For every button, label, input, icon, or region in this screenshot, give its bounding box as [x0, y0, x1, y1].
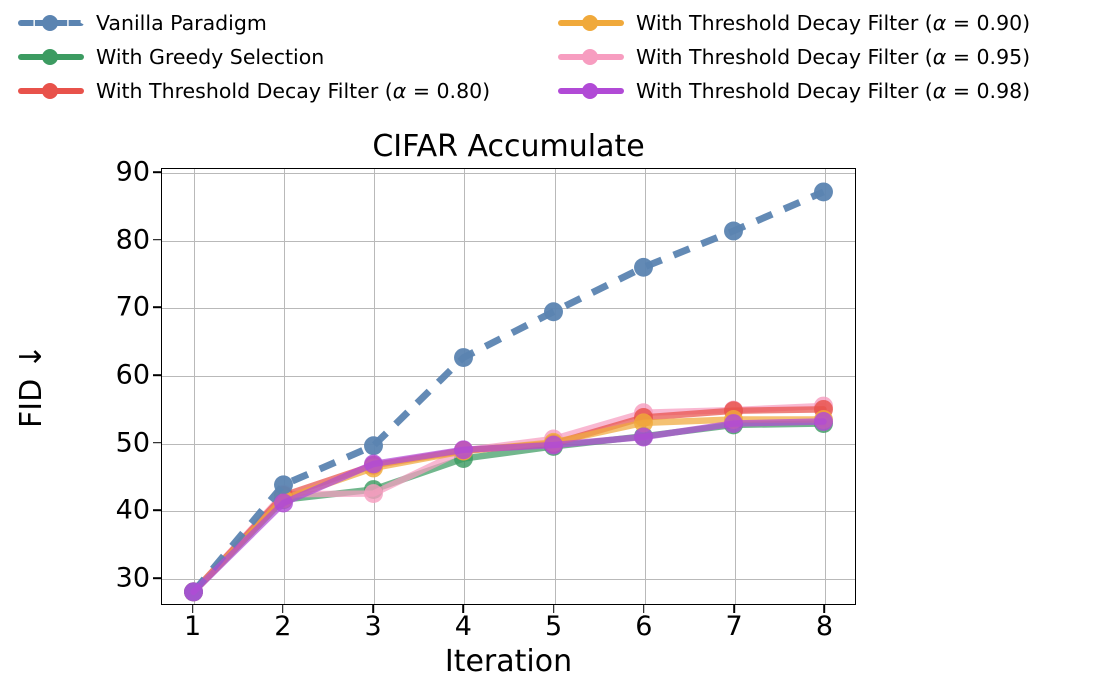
series-group	[184, 412, 833, 601]
legend-marker-icon	[42, 15, 58, 31]
legend-swatch-icon	[18, 45, 84, 69]
data-point-marker	[364, 454, 383, 473]
data-point-marker	[814, 182, 833, 201]
x-tick-label: 2	[274, 612, 291, 642]
x-tick-label: 3	[365, 612, 382, 642]
legend-swatch-icon	[558, 11, 624, 35]
y-tick-label: 50	[116, 429, 150, 456]
legend-item-label: With Threshold Decay Filter (α = 0.80)	[96, 79, 490, 103]
chart-figure: Vanilla ParadigmWith Greedy SelectionWit…	[0, 0, 1100, 683]
legend-item[interactable]: With Threshold Decay Filter (α = 0.80)	[18, 74, 490, 108]
x-tick-label: 7	[726, 612, 743, 642]
y-tick-mark	[153, 171, 161, 173]
data-point-marker	[364, 484, 383, 503]
series-line	[193, 192, 823, 592]
legend-marker-icon	[582, 15, 598, 31]
y-axis-tick-labels: 30405060708090	[76, 168, 150, 605]
legend-swatch-icon	[18, 79, 84, 103]
data-point-marker	[814, 412, 833, 431]
data-point-marker	[634, 258, 653, 277]
y-tick-label: 30	[116, 564, 150, 591]
legend-column-left: Vanilla ParadigmWith Greedy SelectionWit…	[18, 6, 490, 108]
y-tick-mark	[153, 239, 161, 241]
legend-item[interactable]: With Threshold Decay Filter (α = 0.95)	[558, 40, 1030, 74]
y-tick-mark	[153, 374, 161, 376]
data-series-layer	[162, 169, 855, 604]
legend-item-label: With Threshold Decay Filter (α = 0.90)	[636, 11, 1030, 35]
legend-item-label: With Threshold Decay Filter (α = 0.95)	[636, 45, 1030, 69]
y-tick-label: 40	[116, 497, 150, 524]
y-tick-label: 70	[116, 294, 150, 321]
legend-item-label: With Threshold Decay Filter (α = 0.98)	[636, 79, 1030, 103]
y-tick-mark	[153, 442, 161, 444]
y-tick-mark	[153, 577, 161, 579]
data-point-marker	[544, 436, 563, 455]
series-group	[184, 182, 833, 601]
legend-item[interactable]: Vanilla Paradigm	[18, 6, 490, 40]
legend-marker-icon	[42, 49, 58, 65]
data-point-marker	[274, 494, 293, 513]
legend-marker-icon	[582, 83, 598, 99]
x-tick-label: 1	[184, 612, 201, 642]
chart-title: CIFAR Accumulate	[161, 130, 856, 164]
legend-item[interactable]: With Greedy Selection	[18, 40, 490, 74]
data-point-marker	[634, 428, 653, 447]
data-point-marker	[724, 221, 743, 240]
x-tick-label: 6	[635, 612, 652, 642]
data-point-marker	[274, 475, 293, 494]
y-tick-label: 60	[116, 362, 150, 389]
legend-column-right: With Threshold Decay Filter (α = 0.90)Wi…	[558, 6, 1030, 108]
legend-item[interactable]: With Threshold Decay Filter (α = 0.98)	[558, 74, 1030, 108]
x-axis-label: Iteration	[161, 645, 856, 679]
legend-item-label: With Greedy Selection	[96, 45, 324, 69]
x-tick-label: 4	[455, 612, 472, 642]
x-tick-label: 5	[545, 612, 562, 642]
y-axis-label: FID ↓	[15, 286, 49, 486]
data-point-marker	[184, 582, 203, 601]
legend-item[interactable]: With Threshold Decay Filter (α = 0.90)	[558, 6, 1030, 40]
legend-swatch-icon	[558, 45, 624, 69]
legend-swatch-icon	[18, 11, 84, 35]
x-tick-label: 8	[816, 612, 833, 642]
legend-swatch-icon	[558, 79, 624, 103]
legend-marker-icon	[582, 49, 598, 65]
y-tick-mark	[153, 307, 161, 309]
data-point-marker	[364, 436, 383, 455]
y-tick-mark	[153, 509, 161, 511]
data-point-marker	[454, 348, 473, 367]
y-tick-label: 90	[116, 159, 150, 186]
data-point-marker	[544, 302, 563, 321]
data-point-marker	[724, 414, 743, 433]
legend-item-label: Vanilla Paradigm	[96, 11, 267, 35]
plot-area	[161, 168, 856, 605]
y-tick-label: 80	[116, 226, 150, 253]
data-point-marker	[454, 440, 473, 459]
legend-marker-icon	[42, 83, 58, 99]
series-svg	[162, 169, 855, 604]
chart-legend: Vanilla ParadigmWith Greedy SelectionWit…	[0, 0, 1100, 118]
